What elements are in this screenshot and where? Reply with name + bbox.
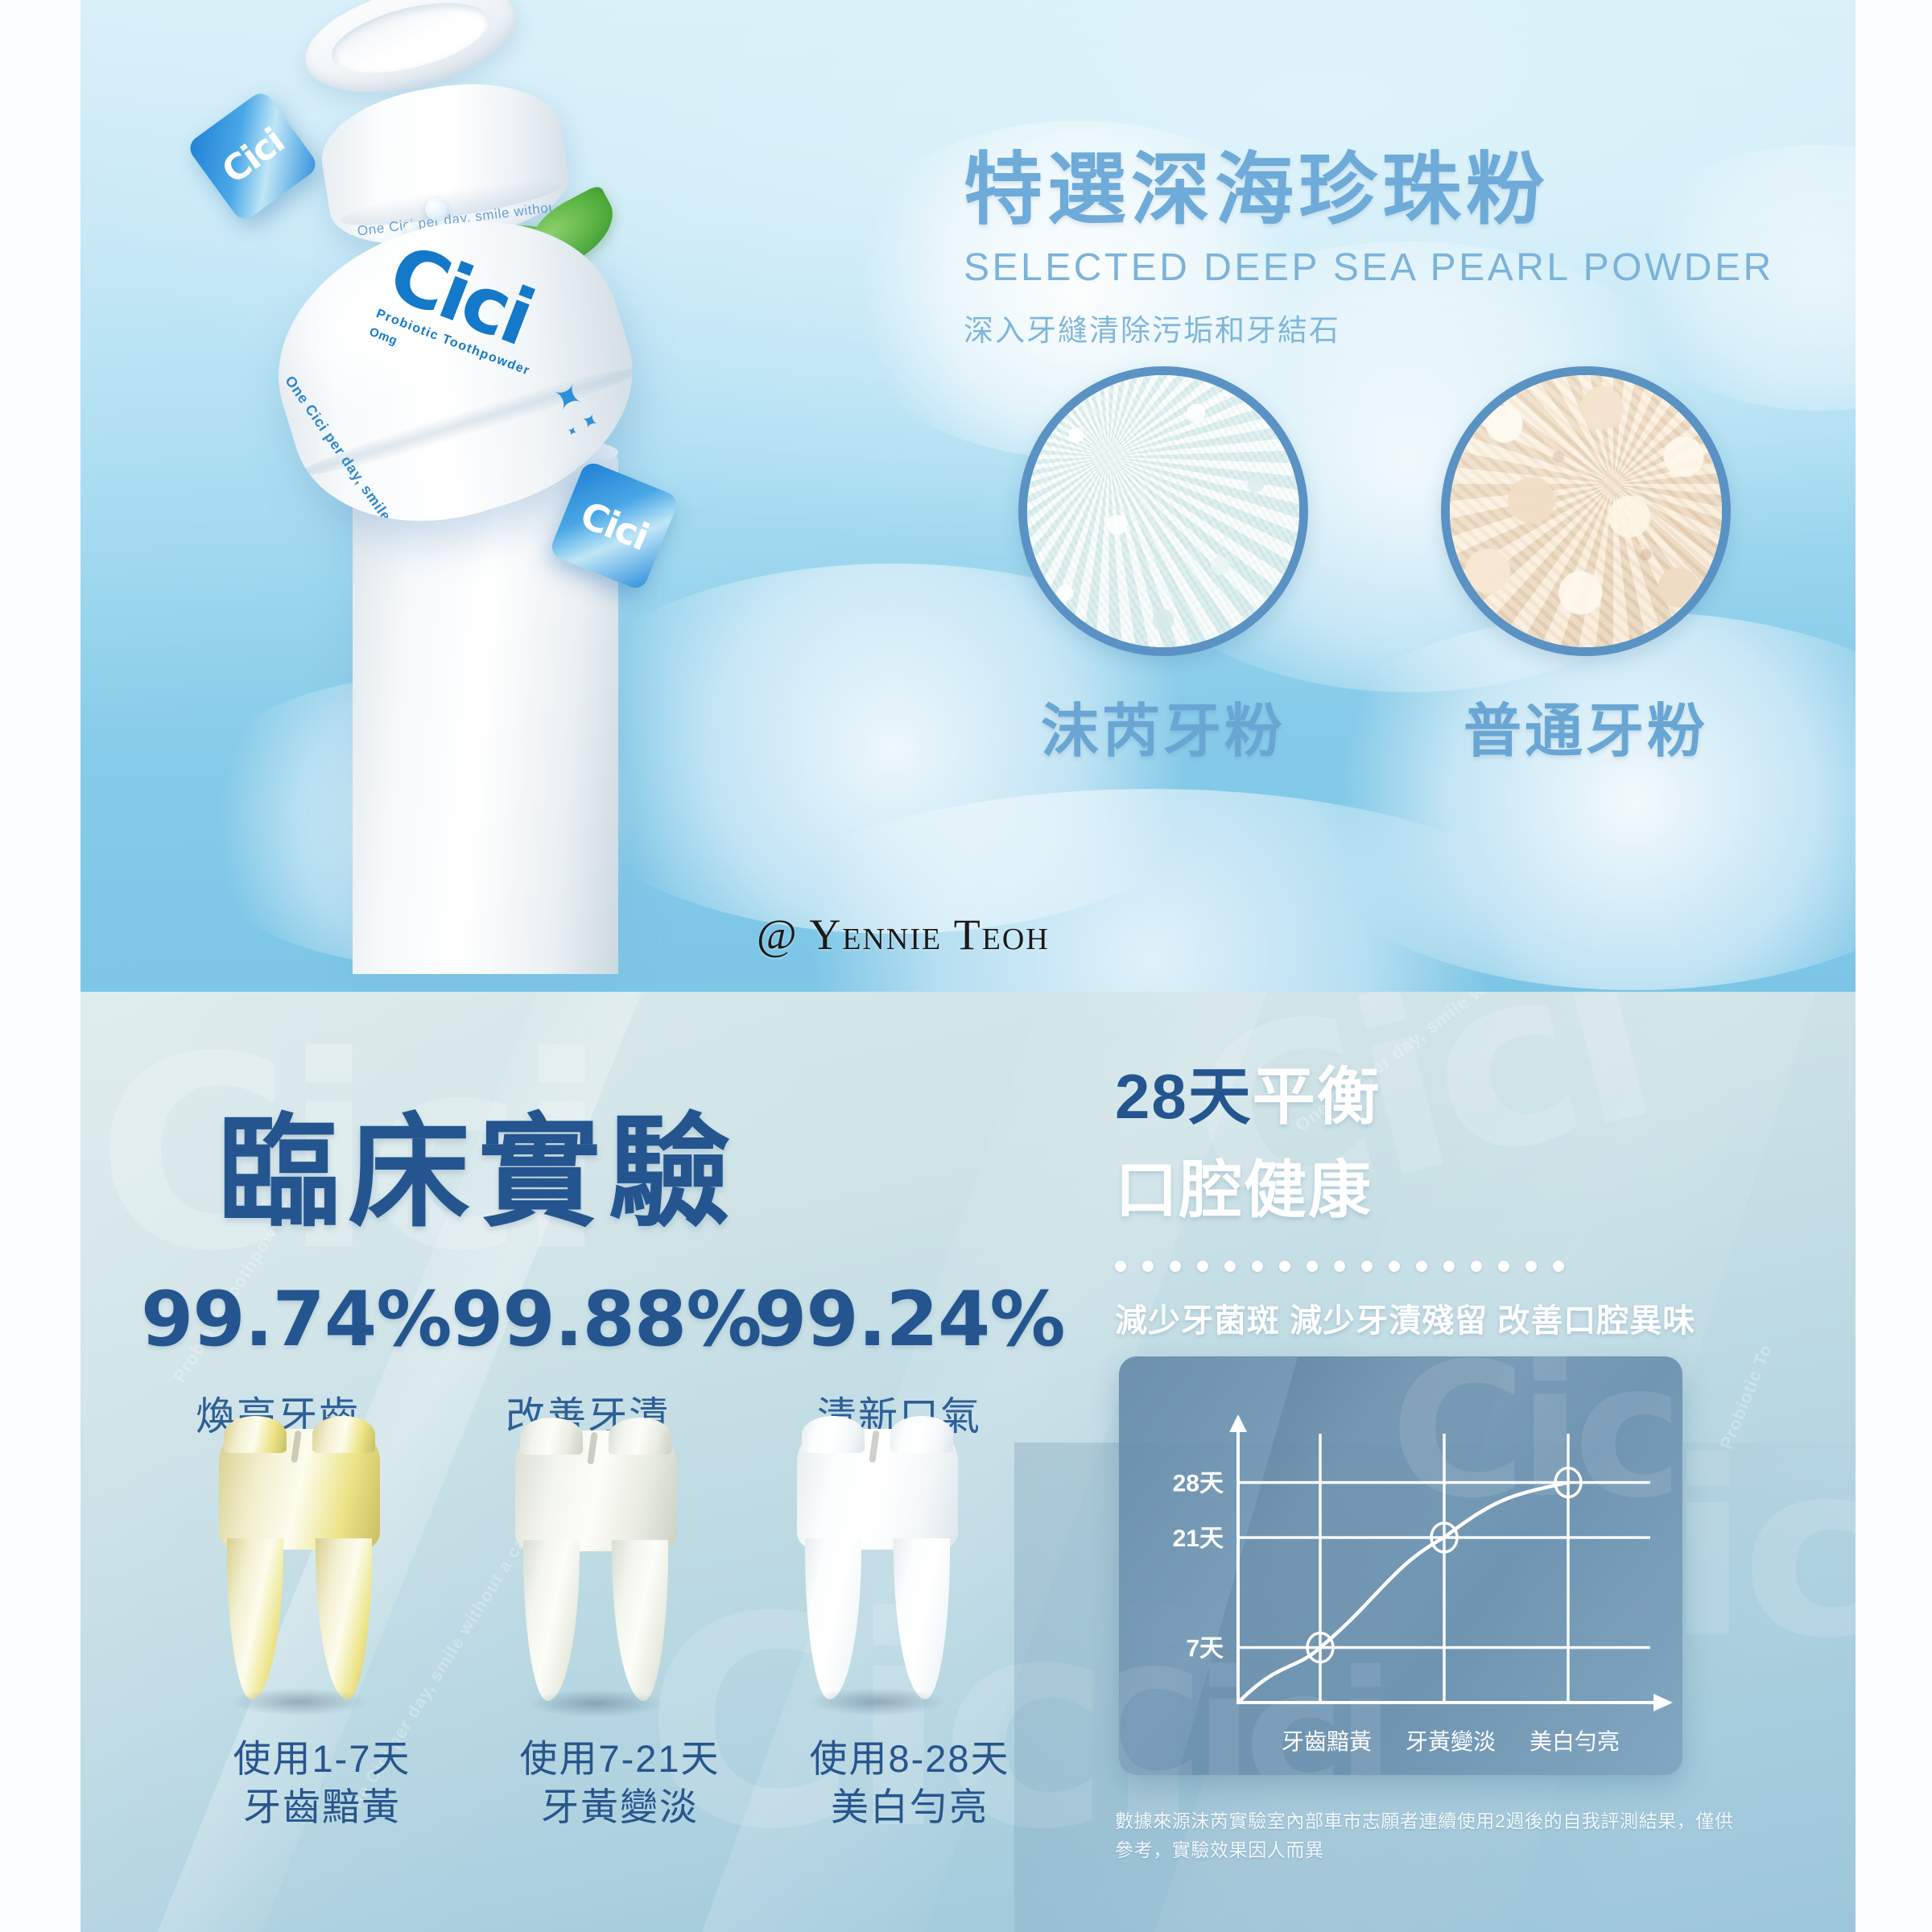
hero-subheadline-cn: 深入牙縫清除污垢和牙結石 [964,306,1849,349]
tooth-root [227,1538,283,1699]
powder-label-cici: 沫芮牙粉 [970,683,1356,768]
usage-days: 使用8-28天 [773,1735,1046,1783]
tooth-root [316,1538,372,1699]
powder-comparison-item-cici: 沫芮牙粉 [970,366,1356,768]
y-axis-arrow [1229,1414,1247,1432]
powder-swatch-circle [1441,366,1731,656]
tooth-root [612,1540,668,1701]
stat-value: 99.24% [754,1276,1028,1364]
tooth-root [805,1538,861,1699]
divider-dot [1197,1261,1208,1272]
x-axis-arrow [1653,1694,1673,1711]
divider-dot [1334,1261,1345,1272]
usage-effect: 牙黃變淡 [483,1783,757,1831]
stat-value: 99.74% [141,1276,415,1364]
sparkle-icon: ✦ [578,408,602,434]
fine-mint-powder-texture [1027,375,1299,647]
usage-effect: 美白勻亮 [773,1783,1046,1831]
x-tick-label: 牙齒黯黃 [1282,1729,1372,1754]
divider-dot [1361,1261,1373,1272]
usage-caption: 使用8-28天 美白勻亮 [773,1735,1046,1831]
usage-caption: 使用7-21天 牙黃變淡 [483,1735,757,1831]
usage-effect: 牙齒黯黃 [185,1783,459,1831]
y-tick-label: 21天 [1173,1525,1224,1552]
divider-dot [1170,1261,1181,1272]
balance-days: 28天 [1115,1061,1253,1132]
divider-dot [1279,1261,1290,1272]
powder-label-ordinary: 普通牙粉 [1393,683,1779,768]
data-source-footnote: 數據來源沫芮實驗室內部車市志願者連續使用2週後的自我評測結果，僅供參考，實驗效果… [1115,1807,1743,1864]
balance-benefits: 減少牙菌斑 減少牙漬殘留 改善口腔異味 [1115,1294,1711,1341]
tooth-yellowed-icon [219,1429,380,1695]
powder-comparison-item-ordinary: 普通牙粉 [1393,366,1779,768]
divider-dot [1416,1261,1427,1272]
hero-copy-block: 特選深海珍珠粉 SELECTED DEEP SEA PEARL POWDER 深… [964,147,1849,349]
divider-dot [1224,1261,1236,1272]
divider-dot [1142,1261,1154,1272]
tooth-white-icon [797,1429,958,1695]
divider-dot [1252,1261,1263,1272]
sparkle-icon: ✦ [564,424,579,440]
divider-dot [1498,1261,1509,1272]
divider-dot [1553,1261,1564,1272]
hero-headline-cn: 特選深海珍珠粉 [964,147,1849,233]
balance-headline-line2: 口腔健康 [1115,1140,1711,1230]
tooth-shadow [232,1688,367,1715]
tooth-shadow [528,1690,663,1717]
divider-dot [1115,1261,1126,1272]
hero-headline-en: SELECTED DEEP SEA PEARL POWDER [964,246,1849,290]
tooth-crown [219,1429,380,1550]
product-jar-composition: Cici One Cici per day, smile without a c… [145,0,853,990]
tooth-root [523,1540,580,1701]
coarse-tan-powder-texture [1450,375,1722,647]
usage-caption: 使用1-7天 牙齒黯黃 [185,1735,459,1831]
powder-swatch-circle [1018,366,1308,656]
tooth-offwhite-icon [515,1430,676,1696]
balance-headline-line1: 28天平衡 [1115,1063,1711,1132]
powder-comparison: 沫芮牙粉 普通牙粉 [946,366,1847,785]
tooth-progression-row [201,1413,1127,1735]
stat-value: 99.88% [451,1276,724,1364]
balance-word: 平衡 [1253,1061,1381,1132]
x-tick-label: 牙黃變淡 [1406,1729,1496,1754]
divider-dot [1471,1261,1482,1272]
balance-claim-block: 28天平衡 口腔健康 減少牙菌斑 減少牙漬殘留 改善口腔異味 [1115,1063,1711,1341]
dotted-divider [1115,1261,1711,1272]
water-droplet-icon [425,198,448,221]
tooth-crown [797,1429,958,1550]
divider-dot [1307,1261,1318,1272]
progress-curve [1238,1483,1568,1703]
divider-dot [1443,1261,1455,1272]
infographic-page: Cici One Cici per day, smile without a c… [0,0,1932,1932]
whitening-progress-chart-card: Cici Cici 7天21天28天牙齒黯黃牙黃變淡美白勻亮 [1119,1356,1682,1775]
tooth-crown [515,1430,676,1551]
brand-ghost-tagline: Probiotic To [1715,1341,1777,1452]
x-tick-label: 美白勻亮 [1529,1729,1620,1754]
cici-logo: Cici Probiotic Toothpowder Omg ✦ ✦ ✦ [347,233,603,466]
divider-dot [1525,1261,1537,1272]
sachet-icon: Cici [185,89,320,224]
tooth-root [894,1538,950,1699]
y-tick-label: 7天 [1186,1636,1224,1662]
usage-days: 使用1-7天 [185,1735,459,1783]
whitening-progress-line-chart: 7天21天28天牙齒黯黃牙黃變淡美白勻亮 [1119,1356,1682,1775]
top-hero-panel: Cici One Cici per day, smile without a c… [80,0,1856,992]
divider-dot [1389,1261,1400,1272]
tooth-shadow [810,1688,945,1715]
clinical-trial-title: 臨床實驗 [217,1073,739,1250]
y-tick-label: 28天 [1173,1471,1224,1497]
usage-days: 使用7-21天 [483,1735,757,1783]
watermark-credit: @ Yennie Teoh [757,910,1050,960]
